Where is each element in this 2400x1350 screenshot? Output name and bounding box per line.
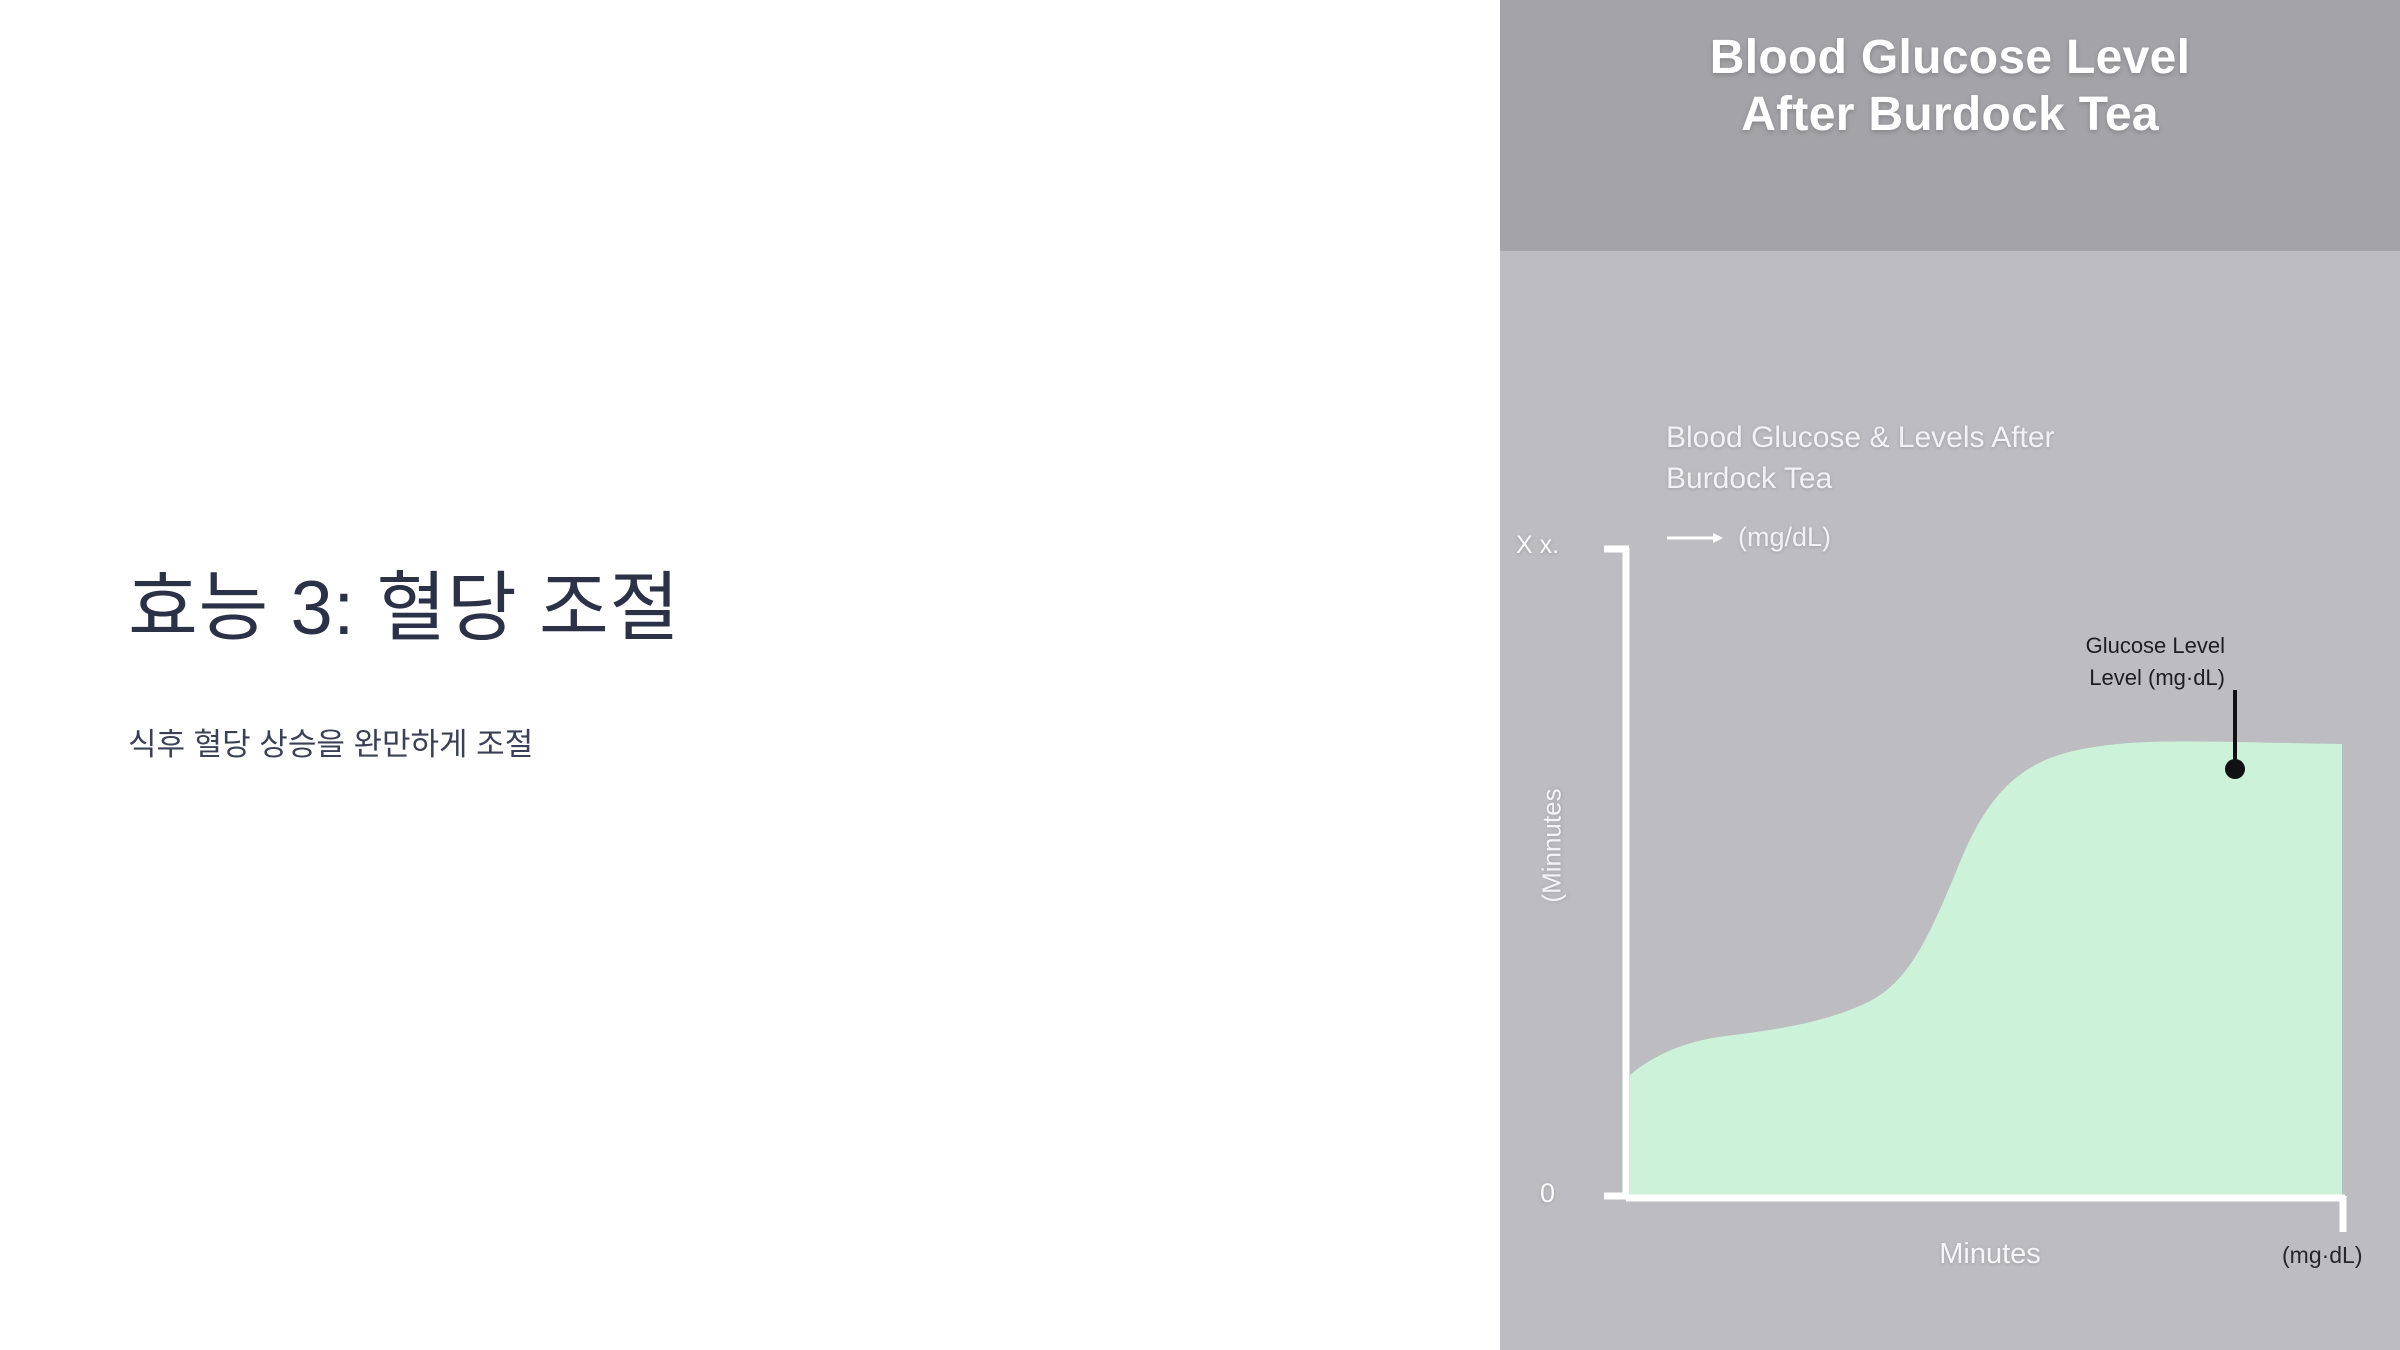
y-axis-zero-tick-label: 0 [1540, 1178, 1555, 1209]
annotation-line1: Glucose Level [2086, 633, 2225, 658]
page-subtitle: 식후 혈당 상승을 완만하게 조절 [128, 725, 533, 765]
data-point-annotation: Glucose Level Level (mg·dL) [1905, 630, 2225, 694]
annotation-line2: Level (mg·dL) [1905, 662, 2225, 694]
chart-panel: Blood Glucose Level After Burdock Tea Bl… [1500, 0, 2400, 1350]
x-axis-title: Minutes [1620, 1238, 2360, 1271]
glucose-area-series [1630, 741, 2342, 1198]
y-axis-title: (Minnutes [1537, 761, 1568, 931]
x-axis-unit-label: (mg·dL) [2282, 1242, 2363, 1269]
page-title: 효능 3: 혈당 조절 [128, 565, 680, 652]
left-content-pane: 효능 3: 혈당 조절 식후 혈당 상승을 완만하게 조절 [0, 0, 1500, 1350]
chart-figure: Blood Glucose & Levels After Burdock Tea… [1500, 0, 2400, 1350]
glucose-data-point-marker [2225, 759, 2245, 779]
y-axis-top-tick-label: X x. [1516, 531, 1559, 560]
slide-root: 효능 3: 혈당 조절 식후 혈당 상승을 완만하게 조절 Blood Gluc… [0, 0, 2400, 1350]
